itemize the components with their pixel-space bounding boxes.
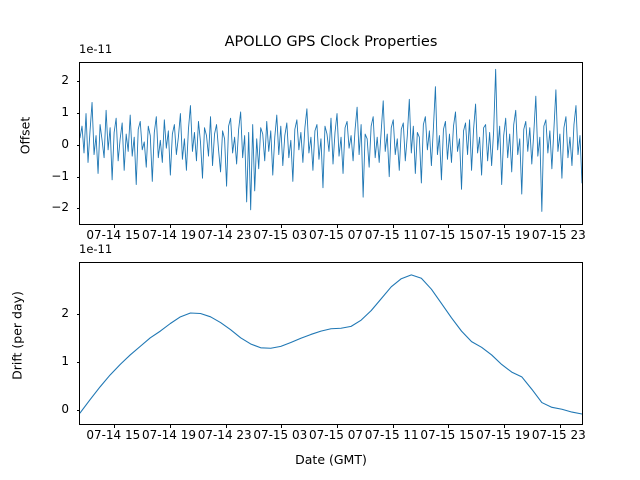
x-tickmark: [448, 224, 449, 228]
x-tickmark: [337, 224, 338, 228]
y-tick-label: 1: [61, 106, 69, 118]
drift-x-tick-labels: 07-14 1507-14 1907-14 2307-15 0307-15 07…: [0, 428, 640, 446]
x-tickmark: [281, 224, 282, 228]
x-tick-label: 07-15 03: [253, 228, 307, 242]
x-tick-label: 07-14 19: [142, 228, 196, 242]
drift-x-axis-title: Date (GMT): [79, 452, 583, 467]
y-tick-label: 0: [61, 138, 69, 150]
y-tickmark: [77, 208, 81, 209]
x-tickmark: [560, 224, 561, 228]
y-tickmark: [77, 362, 81, 363]
drift-y-axis-title: Drift (per day): [10, 261, 25, 411]
x-tick-label: 07-14 19: [142, 428, 196, 442]
x-tick-label: 07-15 11: [365, 228, 419, 242]
drift-data-line: [80, 275, 582, 414]
x-tickmark: [114, 224, 115, 228]
x-tick-label: 07-15 19: [476, 428, 530, 442]
x-tickmark: [337, 424, 338, 428]
y-tick-label: −1: [51, 170, 69, 182]
y-tickmark: [77, 177, 81, 178]
x-tickmark: [393, 424, 394, 428]
x-tickmark: [226, 224, 227, 228]
y-tickmark: [77, 81, 81, 82]
y-tick-label: 0: [61, 403, 69, 415]
x-tickmark: [114, 424, 115, 428]
x-tick-label: 07-15 03: [253, 428, 307, 442]
x-tickmark: [448, 424, 449, 428]
matplotlib-figure: APOLLO GPS Clock Properties 1e-11 −2−101…: [0, 0, 640, 480]
y-tickmark: [77, 410, 81, 411]
x-tickmark: [226, 424, 227, 428]
offset-exponent-label-bottom: 1e-11: [79, 242, 112, 256]
x-tickmark: [393, 224, 394, 228]
y-tick-label: −2: [51, 201, 69, 213]
x-tickmark: [281, 424, 282, 428]
offset-plot-axes: [79, 62, 583, 225]
x-tickmark: [170, 424, 171, 428]
x-tick-label: 07-14 15: [86, 228, 140, 242]
x-tick-label: 07-14 15: [86, 428, 140, 442]
x-tickmark: [504, 424, 505, 428]
x-tick-label: 07-15 23: [532, 228, 586, 242]
offset-plot-canvas: [80, 63, 582, 224]
offset-y-axis-title: Offset: [18, 86, 33, 186]
x-tick-label: 07-15 15: [420, 428, 474, 442]
x-tick-label: 07-15 07: [309, 428, 363, 442]
offset-y-tick-labels: −2−1012: [4, 62, 72, 225]
page-title: APOLLO GPS Clock Properties: [79, 33, 583, 51]
x-tick-label: 07-15 15: [420, 228, 474, 242]
y-tick-label: 2: [61, 74, 69, 86]
x-tick-label: 07-14 23: [198, 228, 252, 242]
y-tick-label: 2: [61, 307, 69, 319]
x-tick-label: 07-14 23: [198, 428, 252, 442]
offset-exponent-label-top: 1e-11: [79, 42, 112, 56]
x-tickmark: [170, 224, 171, 228]
x-tick-label: 07-15 19: [476, 228, 530, 242]
offset-data-line: [80, 69, 582, 211]
drift-plot-canvas: [80, 263, 582, 424]
x-tickmark: [504, 224, 505, 228]
x-tick-label: 07-15 07: [309, 228, 363, 242]
y-tickmark: [77, 314, 81, 315]
y-tickmark: [77, 113, 81, 114]
x-tick-label: 07-15 23: [532, 428, 586, 442]
drift-plot-axes: [79, 262, 583, 425]
x-tick-label: 07-15 11: [365, 428, 419, 442]
y-tick-label: 1: [61, 355, 69, 367]
y-tickmark: [77, 145, 81, 146]
x-tickmark: [560, 424, 561, 428]
